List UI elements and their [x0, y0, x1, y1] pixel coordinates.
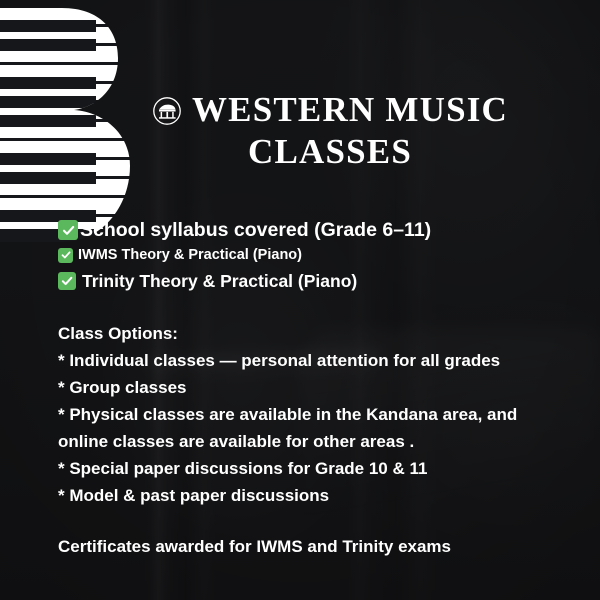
feature-checklist: School syllabus covered (Grade 6–11) IWM…	[58, 217, 558, 294]
check-mark-icon	[58, 220, 78, 240]
class-option-line: * Model & past paper discussions	[58, 482, 582, 509]
class-option-line: online classes are available for other a…	[58, 428, 582, 455]
piano-keyboard-graphic	[0, 0, 130, 250]
grand-piano-circle-icon	[152, 96, 182, 126]
list-item: Trinity Theory & Practical (Piano)	[58, 268, 558, 294]
class-option-line: * Special paper discussions for Grade 10…	[58, 455, 582, 482]
list-item: IWMS Theory & Practical (Piano)	[58, 244, 558, 266]
certificates-note: Certificates awarded for IWMS and Trinit…	[58, 533, 451, 560]
checklist-label: IWMS Theory & Practical (Piano)	[78, 244, 302, 266]
class-option-line: * Individual classes — personal attentio…	[58, 347, 582, 374]
list-item: School syllabus covered (Grade 6–11)	[58, 217, 558, 243]
class-option-line: * Group classes	[58, 374, 582, 401]
page-title-line1: WESTERN MUSIC	[192, 92, 508, 127]
poster-header: WESTERN MUSIC CLASSES	[130, 92, 530, 172]
check-mark-icon	[58, 272, 76, 290]
class-options-block: Class Options: * Individual classes — pe…	[58, 320, 582, 509]
poster-canvas: WESTERN MUSIC CLASSES School syllabus co…	[0, 0, 600, 600]
class-option-line: * Physical classes are available in the …	[58, 401, 582, 428]
class-options-heading: Class Options:	[58, 320, 582, 347]
checklist-label: School syllabus covered (Grade 6–11)	[80, 217, 431, 243]
title-row: WESTERN MUSIC	[130, 92, 530, 127]
page-title-line2: CLASSES	[130, 131, 530, 172]
check-mark-icon	[58, 248, 73, 263]
checklist-label: Trinity Theory & Practical (Piano)	[82, 268, 357, 294]
